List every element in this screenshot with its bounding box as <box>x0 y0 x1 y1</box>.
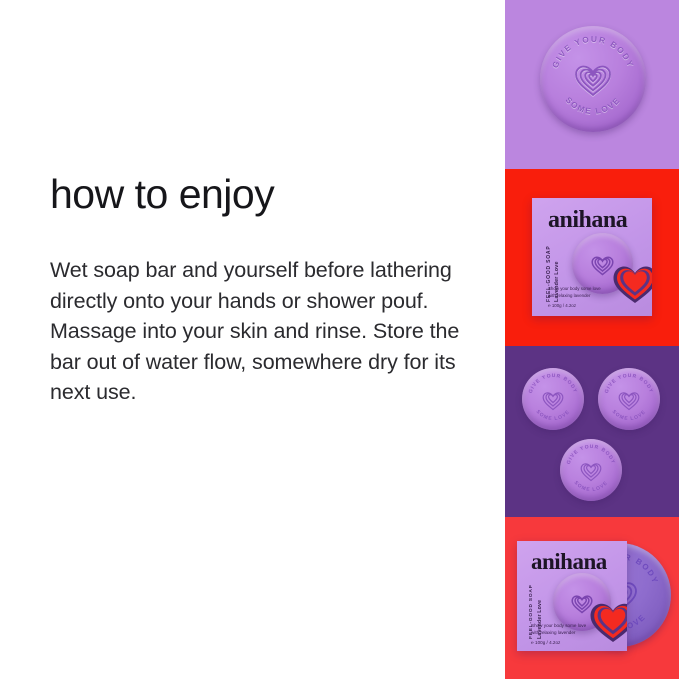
heart-emboss-icon <box>543 393 563 410</box>
product-image-strip: GIVE YOUR BODY SOME LOVE <box>505 0 679 679</box>
package-net-weight: ℮ 100g / 4.2oz <box>548 303 576 308</box>
svg-text:SOME LOVE: SOME LOVE <box>611 409 648 422</box>
package-tagline-1: Show your body some love <box>531 623 586 630</box>
svg-text:GIVE YOUR BODY: GIVE YOUR BODY <box>550 34 636 70</box>
heart-emboss-icon <box>592 257 613 274</box>
heart-emboss-icon <box>619 393 639 410</box>
soap-top-text: GIVE YOUR BODY <box>550 34 636 70</box>
layered-heart-icon <box>589 599 627 643</box>
svg-text:GIVE YOUR BODY: GIVE YOUR BODY <box>566 444 616 465</box>
svg-text:SOME LOVE: SOME LOVE <box>573 480 610 493</box>
svg-text:GIVE YOUR BODY: GIVE YOUR BODY <box>528 373 578 394</box>
page-title: how to enjoy <box>50 172 470 217</box>
svg-text:GIVE YOUR BODY: GIVE YOUR BODY <box>604 373 654 394</box>
heart-emboss-icon <box>581 464 601 481</box>
soap-bottom-text: SOME LOVE <box>535 409 572 422</box>
package-net-weight: ℮ 100g / 4.2oz <box>531 640 560 645</box>
soap-bar: GIVE YOUR BODY SOME LOVE <box>522 368 584 430</box>
soap-bottom-text: SOME LOVE <box>611 409 648 422</box>
soap-emboss: GIVE YOUR BODY SOME LOVE <box>540 26 646 132</box>
product-detail-image: how to enjoy Wet soap bar and yourself b… <box>0 0 679 679</box>
instructions-section: how to enjoy Wet soap bar and yourself b… <box>50 172 470 408</box>
soap-top-text: GIVE YOUR BODY <box>604 373 654 394</box>
soap-bottom-text: SOME LOVE <box>564 95 623 116</box>
soap-top-text: GIVE YOUR BODY <box>566 444 616 465</box>
package-tagline-2: with relaxing lavender <box>548 293 590 299</box>
soap-top-text: GIVE YOUR BODY <box>528 373 578 394</box>
package-tagline-2: with relaxing lavender <box>531 630 575 637</box>
soap-package: anihana FEEL-GOOD SOAP Lavender Love <box>517 541 627 651</box>
soap-bar: GIVE YOUR BODY SOME LOVE <box>560 439 622 501</box>
brand-logo: anihana <box>531 549 607 575</box>
instructions-body: Wet soap bar and yourself before latheri… <box>50 255 470 408</box>
soap-package: anihana FEEL-GOOD SOAP Lavender Love <box>532 198 652 316</box>
panel-soap-hero: GIVE YOUR BODY SOME LOVE <box>505 0 679 169</box>
panel-package-soap: GIVE YOUR BODY SOME LOVE anihana FEEL-GO… <box>505 517 679 679</box>
svg-text:SOME LOVE: SOME LOVE <box>564 95 623 116</box>
svg-text:SOME LOVE: SOME LOVE <box>535 409 572 422</box>
soap-bar: GIVE YOUR BODY SOME LOVE <box>540 26 646 132</box>
brand-logo: anihana <box>548 207 627 234</box>
soap-bottom-text: SOME LOVE <box>573 480 610 493</box>
package-tagline-1: Show your body some love <box>548 286 601 292</box>
panel-package-red: anihana FEEL-GOOD SOAP Lavender Love <box>505 169 679 346</box>
soap-bar: GIVE YOUR BODY SOME LOVE <box>598 368 660 430</box>
layered-heart-icon <box>612 262 652 304</box>
heart-emboss-icon <box>576 67 610 95</box>
panel-three-soaps: GIVE YOUR BODY SOME LOVE <box>505 346 679 517</box>
